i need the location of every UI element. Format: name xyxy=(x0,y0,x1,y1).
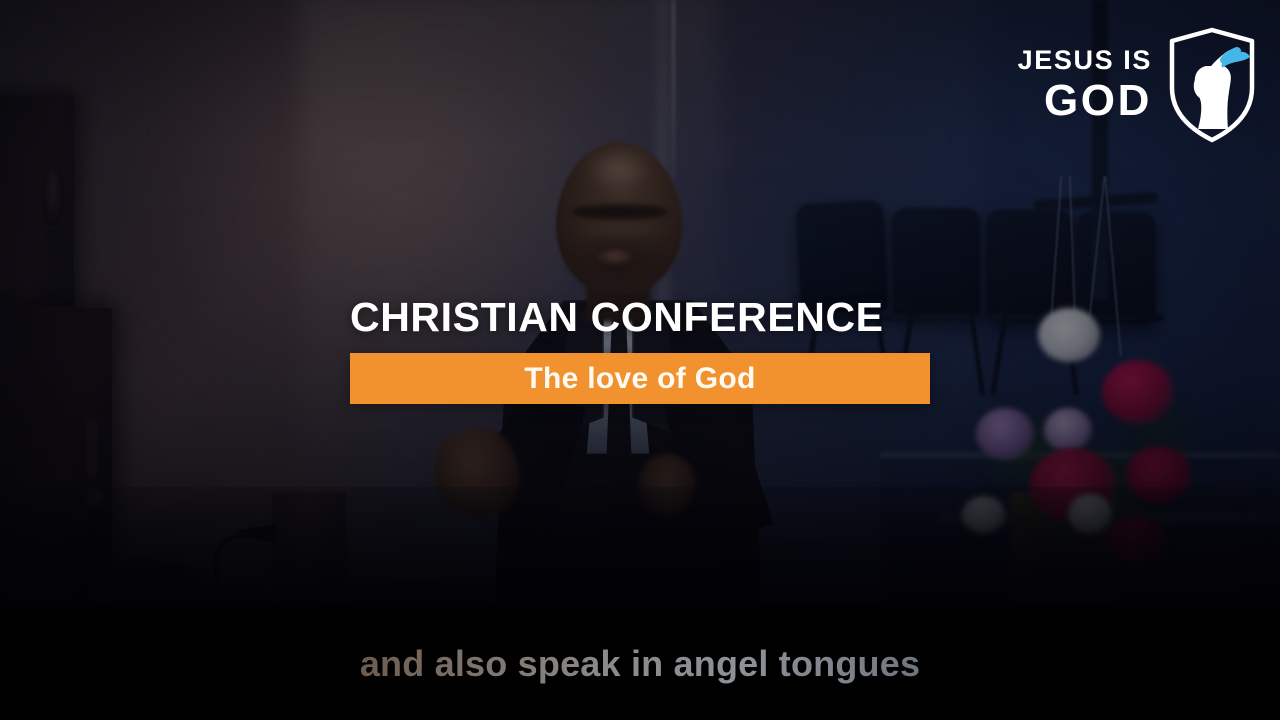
event-subtitle: The love of God xyxy=(524,362,755,396)
video-player-frame: JESUS IS GOD CHRISTIAN CONFERENCE The lo… xyxy=(0,0,1280,720)
caption-text: and also speak in angel tongues xyxy=(360,643,920,685)
title-block: CHRISTIAN CONFERENCE The love of God xyxy=(350,296,932,404)
title-banner: The love of God xyxy=(350,353,930,404)
brand-wordmark: JESUS IS GOD xyxy=(1018,47,1152,123)
brand-line-god: GOD xyxy=(1044,79,1152,123)
event-title: CHRISTIAN CONFERENCE xyxy=(350,296,932,339)
brand-lockup: JESUS IS GOD xyxy=(1018,26,1258,144)
caption-bar: and also speak in angel tongues xyxy=(0,607,1280,720)
brand-line-jesus-is: JESUS IS xyxy=(1018,47,1152,74)
shield-shofar-logo-icon xyxy=(1166,26,1258,144)
